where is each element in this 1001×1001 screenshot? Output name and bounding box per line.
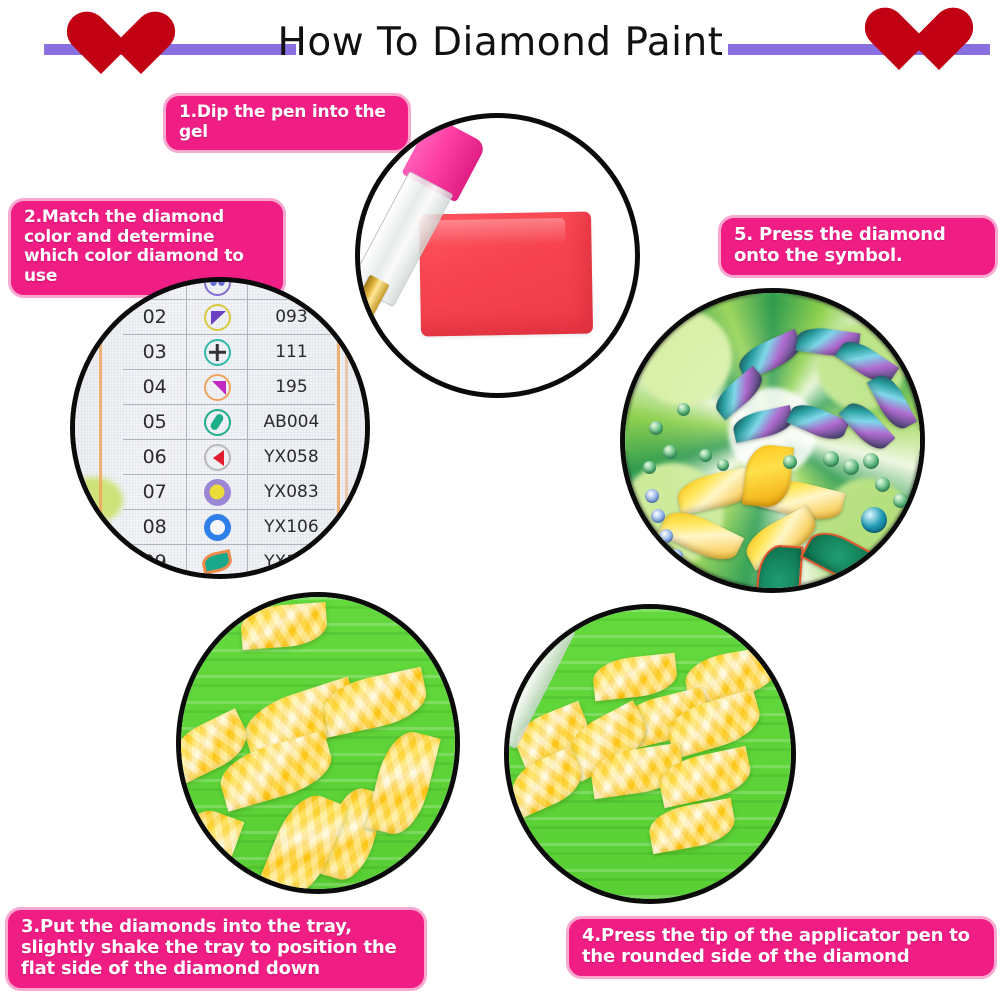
chart-row-code: 195 (248, 370, 335, 404)
ring-icon (204, 514, 231, 541)
chart-row-code: 093 (248, 300, 335, 334)
chart-row-code: YX106 (248, 510, 335, 544)
chart-row-number: 03 (123, 335, 187, 369)
leaf-icon (200, 549, 234, 575)
mandala-rhinestone (643, 461, 656, 474)
gem-facets (365, 726, 441, 839)
plus-icon (204, 339, 231, 366)
color-chart-table: 0102802093031110419505AB00406YX05807YX08… (123, 277, 335, 579)
diamond-gem (176, 802, 244, 894)
chevron-left-icon (204, 444, 231, 471)
chart-row-code: AB004 (248, 405, 335, 439)
chart-rule-right-2 (345, 282, 348, 574)
diamond-gem (319, 667, 431, 738)
gel-pad (419, 212, 593, 337)
gem-facets (319, 667, 431, 738)
mandala-rhinestone (699, 449, 712, 462)
color-chart-row: 09YX125 (123, 545, 335, 579)
step-1-scene (360, 118, 635, 393)
page-title: How To Diamond Paint (0, 20, 1001, 65)
chart-row-code: 111 (248, 335, 335, 369)
double-dot-icon (204, 277, 231, 296)
chart-row-code: YX058 (248, 440, 335, 474)
mandala-rhinestone (783, 455, 797, 469)
diamond-gem (365, 726, 441, 839)
step-5-label: 5. Press the diamond onto the symbol. (718, 215, 998, 278)
mandala-rhinestone (659, 529, 673, 543)
tray-diamonds (181, 597, 455, 889)
gem-facets (176, 802, 244, 894)
chart-row-symbol-cell (187, 510, 247, 544)
chart-row-symbol-cell (187, 440, 247, 474)
color-chart-row: 06YX058 (123, 440, 335, 475)
chart-row-symbol-cell (187, 405, 247, 439)
mandala-rhinestone (645, 489, 659, 503)
color-chart-row: 02093 (123, 300, 335, 335)
mandala-rhinestone (786, 398, 850, 445)
color-chart-row: 07YX083 (123, 475, 335, 510)
step-4-label: 4.Press the tip of the applicator pen to… (566, 916, 997, 979)
mandala-rhinestone (669, 549, 683, 563)
color-chart-row: 08YX106 (123, 510, 335, 545)
mandala-rhinestone (651, 509, 665, 523)
color-chart-row: 04195 (123, 370, 335, 405)
chart-row-number: 02 (123, 300, 187, 334)
color-chart-row: 03111 (123, 335, 335, 370)
chart-row-code: YX125 (248, 545, 335, 579)
chart-row-symbol-cell (187, 335, 247, 369)
page-header: How To Diamond Paint (0, 0, 1001, 92)
chart-row-symbol-cell (187, 277, 247, 299)
chart-row-number: 06 (123, 440, 187, 474)
mandala-rhinestone (861, 507, 887, 533)
mandala-rhinestone (677, 403, 690, 416)
chart-row-number: 07 (123, 475, 187, 509)
diamond-gem (240, 602, 329, 650)
chart-row-symbol-cell (187, 370, 247, 404)
diamond-gem (591, 653, 679, 702)
chart-row-symbol-cell (187, 300, 247, 334)
gem-facets (240, 602, 329, 650)
mandala-rhinestone (863, 453, 879, 469)
chart-row-symbol-cell (187, 545, 247, 579)
gem-facets (646, 798, 738, 854)
chart-row-number: 04 (123, 370, 187, 404)
slash-oval-icon (204, 409, 231, 436)
diamond-gem (646, 798, 738, 854)
step-3-label: 3.Put the diamonds into the tray, slight… (5, 907, 427, 991)
step-2-photo: 0102802093031110419505AB00406YX05807YX08… (70, 277, 370, 579)
mandala-rhinestone (875, 477, 890, 492)
step-5-photo (620, 288, 925, 593)
chart-row-number: 09 (123, 545, 187, 579)
step-1-photo (355, 113, 640, 398)
mandala-rhinestone (843, 459, 859, 475)
mandala-rhinestone (663, 445, 677, 459)
chart-row-code: YX083 (248, 475, 335, 509)
mandala-rhinestones (625, 293, 920, 588)
gem-facets (591, 653, 679, 702)
chart-row-symbol-cell (187, 475, 247, 509)
chart-row-number: 05 (123, 405, 187, 439)
triangle-down-icon (204, 374, 231, 401)
step-3-photo (176, 592, 460, 894)
chart-rule-right (337, 282, 340, 574)
step-4-photo (504, 604, 796, 904)
chart-row-number: 08 (123, 510, 187, 544)
mandala-rhinestone (649, 421, 663, 435)
mandala-rhinestone (717, 459, 729, 471)
color-chart-row: 05AB004 (123, 405, 335, 440)
mandala-rhinestone (823, 451, 839, 467)
mandala-rhinestone (731, 405, 795, 443)
canvas-print-blob (79, 544, 113, 574)
chart-rule-left (99, 282, 102, 574)
filled-dot-icon (204, 479, 231, 506)
mandala-rhinestone (893, 493, 908, 508)
triangle-icon (204, 304, 231, 331)
